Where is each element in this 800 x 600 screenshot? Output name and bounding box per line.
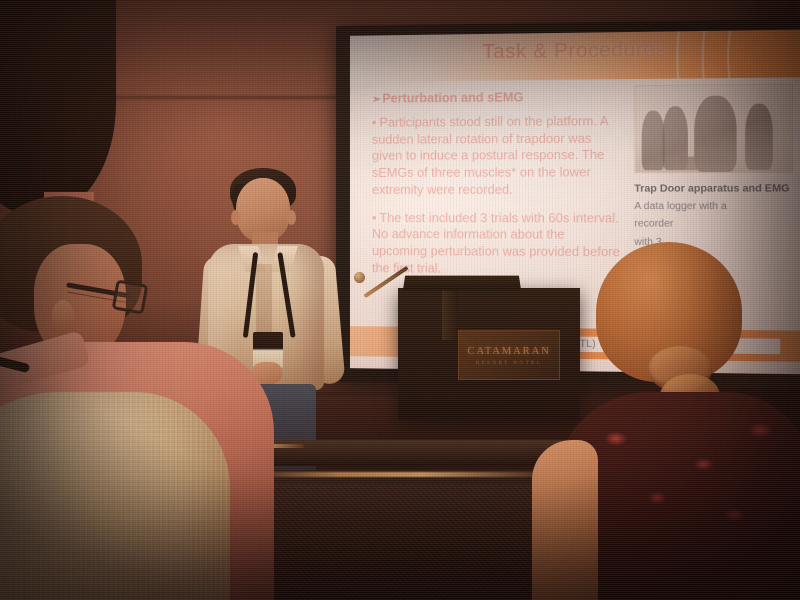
figure-caption: Trap Door apparatus and EMG bbox=[634, 183, 793, 196]
presenter-ear-right bbox=[287, 210, 296, 225]
braided-hair-arm bbox=[532, 440, 598, 600]
right-column-line-1: A data logger with a bbox=[634, 200, 793, 215]
microphone-icon bbox=[354, 272, 365, 283]
slide-title: Task & Procedures bbox=[350, 37, 800, 66]
trap-door-apparatus-photo bbox=[634, 84, 793, 174]
right-column-line-2: recorder bbox=[634, 218, 793, 233]
audience-glasses-ear bbox=[52, 300, 74, 332]
lectern-stem bbox=[442, 288, 458, 340]
cream-shirt-texture bbox=[0, 392, 230, 600]
audience-member-cream-shirt bbox=[0, 392, 230, 600]
lectern-top-surface bbox=[403, 276, 521, 291]
lectern: CATAMARAN RESORT HOTEL bbox=[398, 288, 580, 420]
bullet-dot-icon-2: • bbox=[372, 211, 376, 225]
slide-bullet-1: •Participants stood still on the platfor… bbox=[372, 113, 624, 199]
venue-plaque: CATAMARAN RESORT HOTEL bbox=[458, 330, 560, 380]
conference-room-photo: Task & Procedures ➢Perturbation and sEMG… bbox=[0, 0, 800, 600]
slide-sub-heading: ➢Perturbation and sEMG bbox=[372, 89, 624, 105]
photo-washout-overlay bbox=[635, 85, 792, 173]
table-edge bbox=[236, 440, 586, 466]
venue-subtitle: RESORT HOTEL bbox=[476, 360, 543, 366]
arrow-bullet-icon: ➢ bbox=[372, 94, 381, 106]
eyeglasses-lens-icon bbox=[112, 279, 149, 314]
chair-fabric-center bbox=[260, 484, 554, 600]
venue-name: CATAMARAN bbox=[467, 345, 550, 357]
bullet-dot-icon: • bbox=[372, 116, 376, 130]
audience-member-braided-hair bbox=[560, 242, 800, 600]
sub-heading-text: Perturbation and sEMG bbox=[382, 90, 523, 105]
bullet-1-text: Participants stood still on the platform… bbox=[372, 114, 608, 197]
banquet-chair-center bbox=[252, 470, 562, 600]
